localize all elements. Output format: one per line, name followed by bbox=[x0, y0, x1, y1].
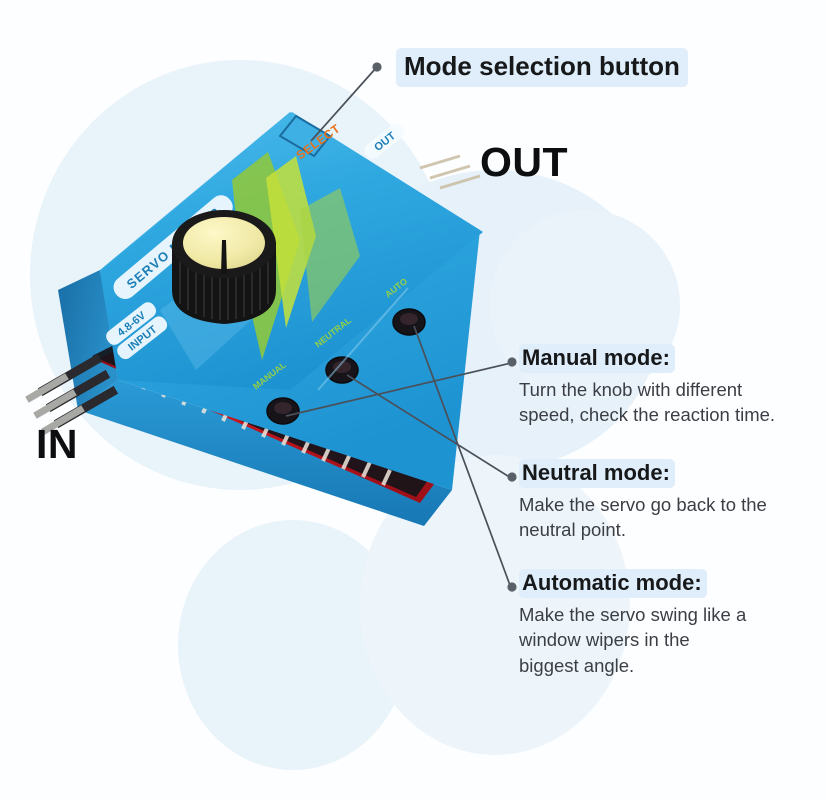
figure-canvas: SERVO MASTER 4.8-6V INPUT SELECT OUT bbox=[0, 0, 826, 800]
callout-body-line: neutral point. bbox=[519, 517, 767, 543]
output-pin-header bbox=[420, 156, 480, 188]
callout-body-line: biggest angle. bbox=[519, 653, 746, 679]
silkscreen-out: OUT bbox=[361, 121, 407, 162]
callout-manual: Manual mode: Turn the knob with differen… bbox=[519, 344, 775, 428]
servo-tester-device: SERVO MASTER 4.8-6V INPUT SELECT OUT bbox=[0, 60, 520, 540]
callout-body: Make the servo go back to the neutral po… bbox=[519, 492, 767, 543]
callout-neutral: Neutral mode: Make the servo go back to … bbox=[519, 459, 767, 543]
callout-title: Automatic mode: bbox=[519, 569, 707, 598]
rotary-knob-graphic[interactable] bbox=[166, 204, 282, 332]
knob-pointer bbox=[221, 240, 227, 274]
in-port-label: IN bbox=[36, 421, 78, 468]
callout-automatic: Automatic mode: Make the servo swing lik… bbox=[519, 569, 746, 679]
callout-body: Make the servo swing like a window wiper… bbox=[519, 602, 746, 679]
callout-mode-selection: Mode selection button bbox=[396, 48, 688, 87]
callout-title: Manual mode: bbox=[519, 344, 675, 373]
callout-body-line: Turn the knob with different bbox=[519, 377, 775, 403]
callout-body-line: Make the servo swing like a bbox=[519, 602, 746, 628]
callout-title: Neutral mode: bbox=[519, 459, 675, 488]
leader-dot-automatic bbox=[507, 582, 516, 591]
rotary-knob[interactable] bbox=[166, 204, 282, 332]
callout-body-line: speed, check the reaction time. bbox=[519, 402, 775, 428]
callout-title: Mode selection button bbox=[396, 48, 688, 87]
manual-mode-button-highlight bbox=[274, 402, 292, 414]
out-port-label: OUT bbox=[480, 139, 568, 186]
background-blob bbox=[178, 520, 408, 770]
callout-body: Turn the knob with different speed, chec… bbox=[519, 377, 775, 428]
automatic-mode-button-highlight bbox=[400, 313, 418, 325]
callout-body-line: window wipers in the bbox=[519, 627, 746, 653]
callout-body-line: Make the servo go back to the bbox=[519, 492, 767, 518]
